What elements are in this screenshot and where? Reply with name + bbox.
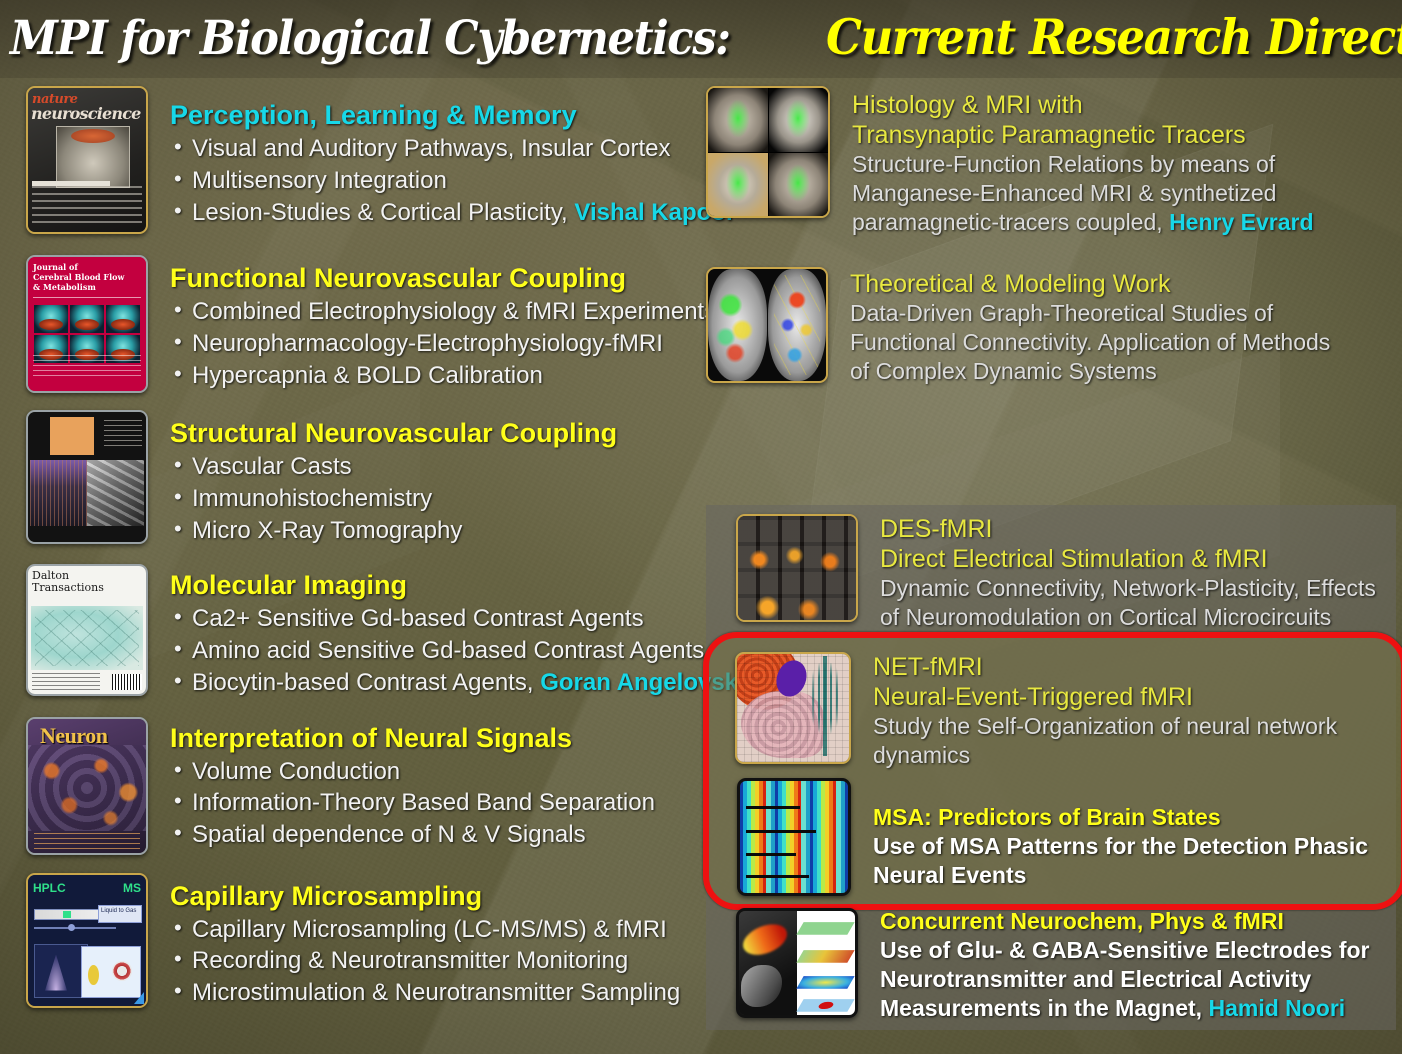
section-heading: Molecular Imaging bbox=[170, 570, 745, 600]
research-entry-capillary-microsampling[interactable]: HPLC MS Liquid to Gas Capillary Microsam… bbox=[26, 873, 706, 1009]
section-heading-line1: DES-fMRI bbox=[880, 514, 1396, 544]
description-line1: Use of MSA Patterns for the Detection Ph… bbox=[873, 832, 1377, 861]
description-line1: Study the Self-Organization of neural ne… bbox=[873, 712, 1375, 741]
brain-slice-3 bbox=[708, 153, 768, 217]
bullet-text: Immunohistochemistry bbox=[192, 485, 432, 512]
bullet-item: Microstimulation & Neurotransmitter Samp… bbox=[170, 977, 706, 1009]
neural-trace bbox=[746, 875, 809, 878]
entry-body: Concurrent Neurochem, Phys & fMRI Use of… bbox=[858, 908, 1396, 1023]
neural-trace bbox=[746, 806, 800, 809]
left-column: nature neuroscience Perception, Learning… bbox=[26, 86, 706, 1009]
research-entry-des-fmri[interactable]: DES-fMRI Direct Electrical Stimulation &… bbox=[736, 514, 1396, 632]
cover-caption-lines bbox=[32, 186, 142, 226]
cover-vascular-cast-image bbox=[30, 460, 89, 526]
cover-artwork bbox=[28, 745, 146, 831]
bullet-text: Volume Conduction bbox=[192, 758, 400, 785]
bullet-text: Neuropharmacology-Electrophysiology-fMRI bbox=[192, 330, 663, 357]
section-heading: Interpretation of Neural Signals bbox=[170, 723, 706, 753]
cerebral-cortex-cover-thumbnail bbox=[26, 410, 148, 544]
spectrogram-image bbox=[740, 781, 848, 893]
description-line2: dynamics bbox=[873, 741, 1375, 770]
fmri-activation-map bbox=[738, 516, 856, 620]
bullet-item: Visual and Auditory Pathways, Insular Co… bbox=[170, 133, 735, 165]
diagram-axis bbox=[34, 927, 116, 929]
des-fmri-activation-thumbnail bbox=[736, 514, 858, 622]
cover-title-line2: Cerebral Blood Flow bbox=[33, 272, 124, 282]
research-entry-molecular-imaging[interactable]: Dalton Transactions Molecular Imaging Ca… bbox=[26, 564, 706, 698]
bullet-text: Combined Electrophysiology & fMRI Experi… bbox=[192, 298, 716, 325]
bullet-item: Information-Theory Based Band Separation bbox=[170, 787, 706, 819]
bullet-text: Recording & Neurotransmitter Monitoring bbox=[192, 947, 628, 974]
highlighted-research-box[interactable]: NET-fMRI Neural-Event-Triggered fMRI Stu… bbox=[703, 632, 1402, 910]
entry-body: Structural Neurovascular Coupling Vascul… bbox=[148, 410, 706, 546]
cover-rule bbox=[33, 297, 141, 298]
dalton-transactions-cover-thumbnail: Dalton Transactions bbox=[26, 564, 148, 696]
bullet-list: Combined Electrophysiology & fMRI Experi… bbox=[170, 296, 716, 391]
brain-heatmap-left bbox=[708, 269, 767, 381]
bullet-text: Lesion-Studies & Cortical Plasticity, bbox=[192, 199, 568, 226]
bullet-list: Vascular Casts Immunohistochemistry Micr… bbox=[170, 451, 706, 546]
description-line2: Neurotransmitter and Electrical Activity bbox=[880, 965, 1396, 994]
hplc-ms-diagram-thumbnail: HPLC MS Liquid to Gas bbox=[26, 873, 148, 1008]
description-line2: Manganese-Enhanced MRI & synthetized bbox=[852, 179, 1396, 208]
cover-artwork bbox=[31, 606, 143, 670]
jcbfm-cover-thumbnail: Journal of Cerebral Blood Flow & Metabol… bbox=[26, 255, 148, 393]
bullet-item: Combined Electrophysiology & fMRI Experi… bbox=[170, 296, 716, 328]
research-entry-structural-neurovascular[interactable]: Structural Neurovascular Coupling Vascul… bbox=[26, 410, 706, 546]
description-line2: of Neuromodulation on Cortical Microcirc… bbox=[880, 603, 1396, 632]
entry-body: Functional Neurovascular Coupling Combin… bbox=[148, 255, 716, 391]
bullet-text: Microstimulation & Neurotransmitter Samp… bbox=[192, 979, 680, 1006]
description-line2: Neural Events bbox=[873, 861, 1377, 890]
cover-title-line1: Dalton bbox=[32, 569, 69, 582]
cover-brain-image bbox=[56, 126, 130, 188]
bullet-item: Recording & Neurotransmitter Monitoring bbox=[170, 945, 706, 977]
entry-body: Capillary Microsampling Capillary Micros… bbox=[148, 873, 706, 1009]
bullet-list: Visual and Auditory Pathways, Insular Co… bbox=[170, 133, 735, 228]
entry-body: Histology & MRI with Transynaptic Parama… bbox=[830, 86, 1396, 237]
bullet-item: Hypercapnia & BOLD Calibration bbox=[170, 360, 716, 392]
section-heading: Theoretical & Modeling Work bbox=[850, 269, 1396, 299]
description-line2: Functional Connectivity. Application of … bbox=[850, 328, 1396, 357]
cover-title-line3: & Metabolism bbox=[33, 282, 96, 292]
cover-title-line2: Transactions bbox=[32, 581, 104, 594]
research-entry-histology-mri[interactable]: Histology & MRI with Transynaptic Parama… bbox=[706, 86, 1396, 237]
cover-grid-cell bbox=[70, 305, 104, 333]
entry-body: Perception, Learning & Memory Visual and… bbox=[148, 86, 735, 228]
description-line3: Measurements in the Magnet, Hamid Noori bbox=[880, 994, 1396, 1023]
cover-footer-lines bbox=[33, 355, 141, 377]
msa-spectrogram-thumbnail bbox=[737, 778, 851, 896]
description-text: Measurements in the Magnet, bbox=[880, 995, 1202, 1021]
slide-root: MPI for Biological Cybernetics:Current R… bbox=[0, 0, 1402, 1054]
bullet-text: Information-Theory Based Band Separation bbox=[192, 789, 655, 816]
title-subject: Current Research Directions bbox=[826, 8, 1402, 66]
detector-diagram bbox=[81, 946, 141, 998]
section-heading-line2: Transynaptic Paramagnetic Tracers bbox=[852, 120, 1396, 150]
liquid-to-gas-label: Liquid to Gas bbox=[101, 908, 136, 914]
cover-title-line2: neuroscience bbox=[31, 104, 141, 123]
research-entry-neural-signals[interactable]: Neuron Interpretation of Neural Signals … bbox=[26, 717, 706, 855]
histology-mri-brain-quad-thumbnail bbox=[706, 86, 830, 218]
brain-slice-4 bbox=[769, 153, 829, 217]
image-grid-overlay bbox=[737, 654, 849, 762]
description-line1: Structure-Function Relations by means of bbox=[852, 150, 1396, 179]
bullet-item: Micro X-Ray Tomography bbox=[170, 515, 706, 547]
entry-body: Molecular Imaging Ca2+ Sensitive Gd-base… bbox=[148, 564, 745, 698]
research-entry-theoretical-modeling[interactable]: Theoretical & Modeling Work Data-Driven … bbox=[706, 267, 1396, 386]
bullet-item: Immunohistochemistry bbox=[170, 483, 706, 515]
bullet-item: Lesion-Studies & Cortical Plasticity, Vi… bbox=[170, 197, 735, 229]
description-line3: of Complex Dynamic Systems bbox=[850, 357, 1396, 386]
description-line3: paramagnetic-tracers coupled, Henry Evra… bbox=[852, 208, 1396, 237]
bullet-text: Vascular Casts bbox=[192, 453, 352, 480]
cover-title-line1: Journal of bbox=[33, 262, 78, 272]
bullet-text: Multisensory Integration bbox=[192, 167, 447, 194]
research-entry-functional-neurovascular[interactable]: Journal of Cerebral Blood Flow & Metabol… bbox=[26, 255, 706, 393]
person-name: Henry Evrard bbox=[1169, 209, 1313, 235]
hippocampus-section-image bbox=[737, 654, 849, 762]
map-layer-3 bbox=[797, 976, 855, 989]
bullet-item: Vascular Casts bbox=[170, 451, 706, 483]
brain-graph-right bbox=[768, 269, 827, 381]
section-heading-line1: Histology & MRI with bbox=[852, 90, 1396, 120]
bullet-item: Biocytin-based Contrast Agents, Goran An… bbox=[170, 667, 745, 699]
map-layer-4 bbox=[797, 999, 855, 1012]
bullet-text: Hypercapnia & BOLD Calibration bbox=[192, 362, 543, 389]
neural-trace bbox=[746, 853, 796, 856]
nature-neuroscience-cover-thumbnail: nature neuroscience bbox=[26, 86, 148, 234]
connectivity-brain-heatmap-thumbnail bbox=[706, 267, 828, 383]
section-heading: Capillary Microsampling bbox=[170, 881, 706, 911]
neurochem-layered-maps-thumbnail bbox=[736, 908, 858, 1018]
neural-trace bbox=[746, 830, 815, 833]
entry-body: DES-fMRI Direct Electrical Stimulation &… bbox=[858, 514, 1396, 632]
description-text: paramagnetic-tracers coupled, bbox=[852, 209, 1163, 235]
map-layer-2 bbox=[797, 950, 855, 963]
bullet-item: Amino acid Sensitive Gd-based Contrast A… bbox=[170, 635, 745, 667]
research-entry-msa[interactable]: MSA: Predictors of Brain States Use of M… bbox=[737, 778, 1377, 896]
section-heading-line1: NET-fMRI bbox=[873, 652, 1375, 682]
description-line1: Dynamic Connectivity, Network-Plasticity… bbox=[880, 574, 1396, 603]
research-entry-net-fmri[interactable]: NET-fMRI Neural-Event-Triggered fMRI Stu… bbox=[735, 652, 1375, 770]
cover-footer-lines bbox=[32, 673, 100, 691]
description-line1: Data-Driven Graph-Theoretical Studies of bbox=[850, 299, 1396, 328]
bullet-item: Ca2+ Sensitive Gd-based Contrast Agents bbox=[170, 603, 745, 635]
bullet-text: Ca2+ Sensitive Gd-based Contrast Agents bbox=[192, 605, 644, 632]
title-institute: MPI for Biological Cybernetics: bbox=[10, 11, 730, 66]
header-bar: MPI for Biological Cybernetics:Current R… bbox=[0, 0, 1402, 78]
bullet-text: Biocytin-based Contrast Agents, bbox=[192, 669, 534, 696]
ms-label: MS bbox=[123, 881, 141, 895]
bullet-text: Amino acid Sensitive Gd-based Contrast A… bbox=[192, 637, 704, 664]
bullet-item: Neuropharmacology-Electrophysiology-fMRI bbox=[170, 328, 716, 360]
section-heading: Functional Neurovascular Coupling bbox=[170, 263, 716, 293]
neuron-cover-thumbnail: Neuron bbox=[26, 717, 148, 855]
right-column: Histology & MRI with Transynaptic Parama… bbox=[706, 86, 1396, 386]
cover-grid-cell bbox=[106, 305, 140, 333]
bullet-item: Spatial dependence of N & V Signals bbox=[170, 819, 706, 851]
bullet-list: Volume Conduction Information-Theory Bas… bbox=[170, 756, 706, 851]
bullet-list: Capillary Microsampling (LC-MS/MS) & fMR… bbox=[170, 914, 706, 1009]
cover-title: Dalton Transactions bbox=[32, 570, 104, 594]
net-fmri-hippocampus-thumbnail bbox=[735, 652, 851, 764]
bullet-item: Volume Conduction bbox=[170, 756, 706, 788]
bullet-item: Capillary Microsampling (LC-MS/MS) & fMR… bbox=[170, 914, 706, 946]
cover-title-lines bbox=[104, 420, 142, 446]
entry-body: NET-fMRI Neural-Event-Triggered fMRI Stu… bbox=[851, 652, 1375, 770]
section-heading: Concurrent Neurochem, Phys & fMRI bbox=[880, 908, 1396, 936]
research-entry-concurrent-neurochem[interactable]: Concurrent Neurochem, Phys & fMRI Use of… bbox=[736, 908, 1396, 1023]
map-layer-1 bbox=[797, 922, 855, 935]
hplc-label: HPLC bbox=[33, 881, 66, 895]
cover-microscopy-image bbox=[87, 460, 144, 526]
electrode-track-mri-image bbox=[739, 911, 797, 1015]
bullet-text: Micro X-Ray Tomography bbox=[192, 517, 462, 544]
chromatogram-peak-plot bbox=[34, 944, 88, 998]
section-heading: MSA: Predictors of Brain States bbox=[873, 804, 1377, 832]
research-entry-perception[interactable]: nature neuroscience Perception, Learning… bbox=[26, 86, 706, 234]
person-name: Hamid Noori bbox=[1208, 995, 1345, 1021]
cover-title: Journal of Cerebral Blood Flow & Metabol… bbox=[33, 262, 124, 292]
layered-activity-maps bbox=[797, 911, 855, 1015]
section-heading-line2: Neural-Event-Triggered fMRI bbox=[873, 682, 1375, 712]
bullet-text: Visual and Auditory Pathways, Insular Co… bbox=[192, 135, 670, 162]
bullet-list: Ca2+ Sensitive Gd-based Contrast Agents … bbox=[170, 603, 745, 698]
brain-slice-1 bbox=[708, 88, 768, 152]
entry-body: Theoretical & Modeling Work Data-Driven … bbox=[828, 267, 1396, 386]
liquid-to-gas-box: Liquid to Gas bbox=[98, 905, 142, 923]
arrow-icon bbox=[134, 992, 144, 1004]
entry-body: MSA: Predictors of Brain States Use of M… bbox=[851, 778, 1377, 890]
bullet-item: Multisensory Integration bbox=[170, 165, 735, 197]
cover-footer-lines bbox=[34, 833, 140, 849]
description-line1: Use of Glu- & GABA-Sensitive Electrodes … bbox=[880, 936, 1396, 965]
brain-slice-2 bbox=[769, 88, 829, 152]
bullet-text: Spatial dependence of N & V Signals bbox=[192, 821, 586, 848]
section-heading: Perception, Learning & Memory bbox=[170, 100, 735, 130]
cover-logo-box bbox=[50, 417, 94, 455]
cover-barcode bbox=[112, 674, 142, 690]
entry-body: Interpretation of Neural Signals Volume … bbox=[148, 717, 706, 851]
page-title: MPI for Biological Cybernetics:Current R… bbox=[10, 8, 1402, 66]
cover-grid-cell bbox=[34, 305, 68, 333]
bullet-text: Capillary Microsampling (LC-MS/MS) & fMR… bbox=[192, 916, 667, 943]
section-heading-line2: Direct Electrical Stimulation & fMRI bbox=[880, 544, 1396, 574]
section-heading: Structural Neurovascular Coupling bbox=[170, 418, 706, 448]
